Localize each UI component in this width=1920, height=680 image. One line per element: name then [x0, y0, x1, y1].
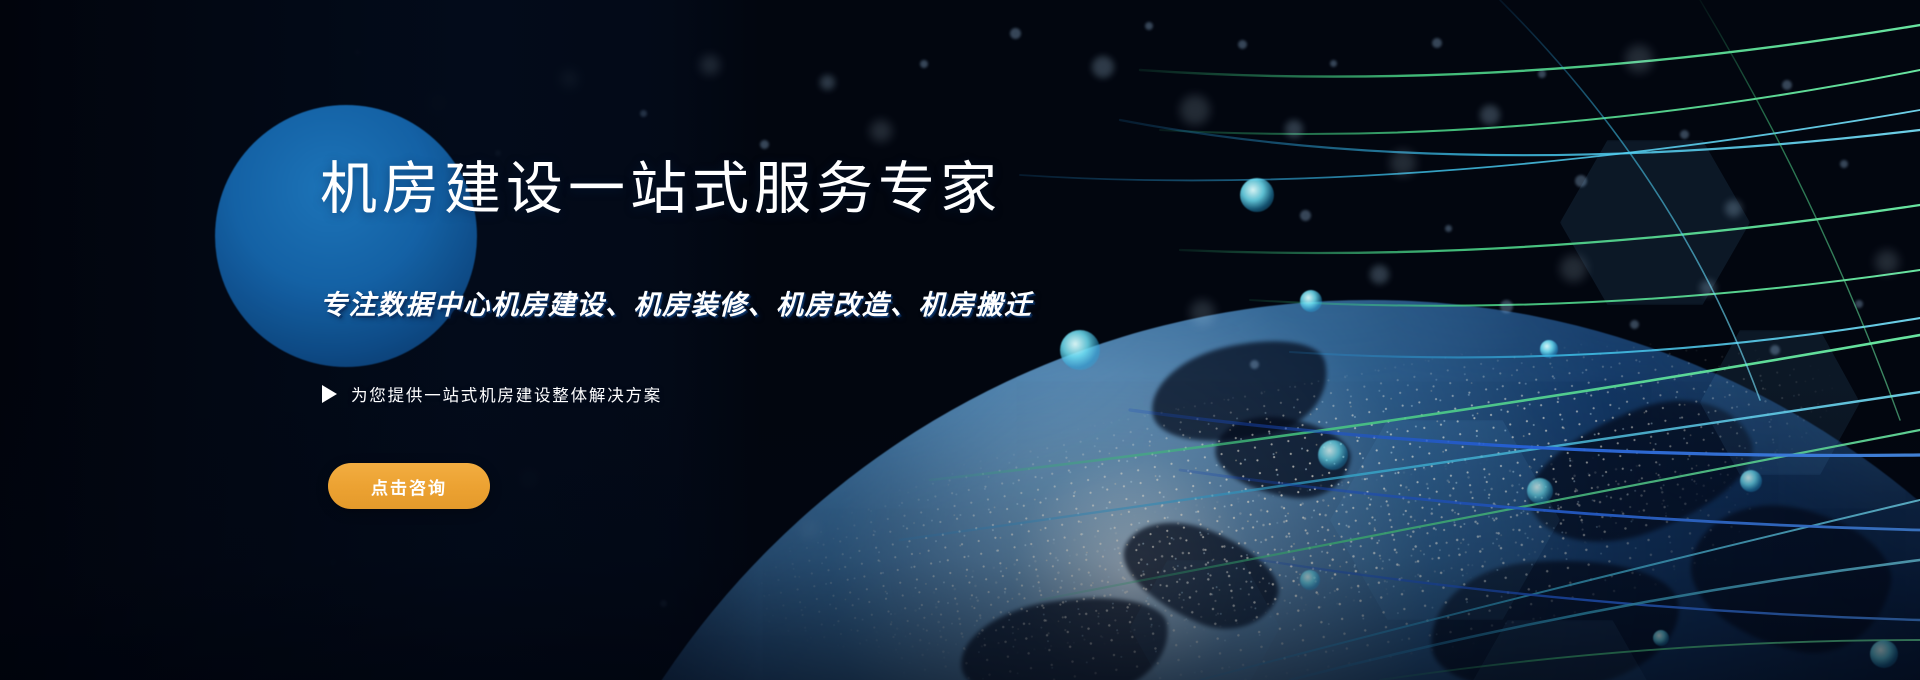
- hero-banner: 机房建设一站式服务专家 专注数据中心机房建设、机房装修、机房改造、机房搬迁 为您…: [0, 0, 1920, 680]
- hero-tagline: 为您提供一站式机房建设整体解决方案: [320, 382, 662, 406]
- hero-content: 机房建设一站式服务专家 专注数据中心机房建设、机房装修、机房改造、机房搬迁 为您…: [320, 0, 1220, 680]
- play-triangle-icon: [322, 385, 337, 403]
- consult-cta-button[interactable]: 点击咨询: [328, 463, 490, 509]
- hero-subtitle: 专注数据中心机房建设、机房装修、机房改造、机房搬迁: [320, 283, 1033, 322]
- page-title: 机房建设一站式服务专家: [320, 160, 1002, 220]
- hero-tagline-text: 为您提供一站式机房建设整体解决方案: [351, 382, 662, 406]
